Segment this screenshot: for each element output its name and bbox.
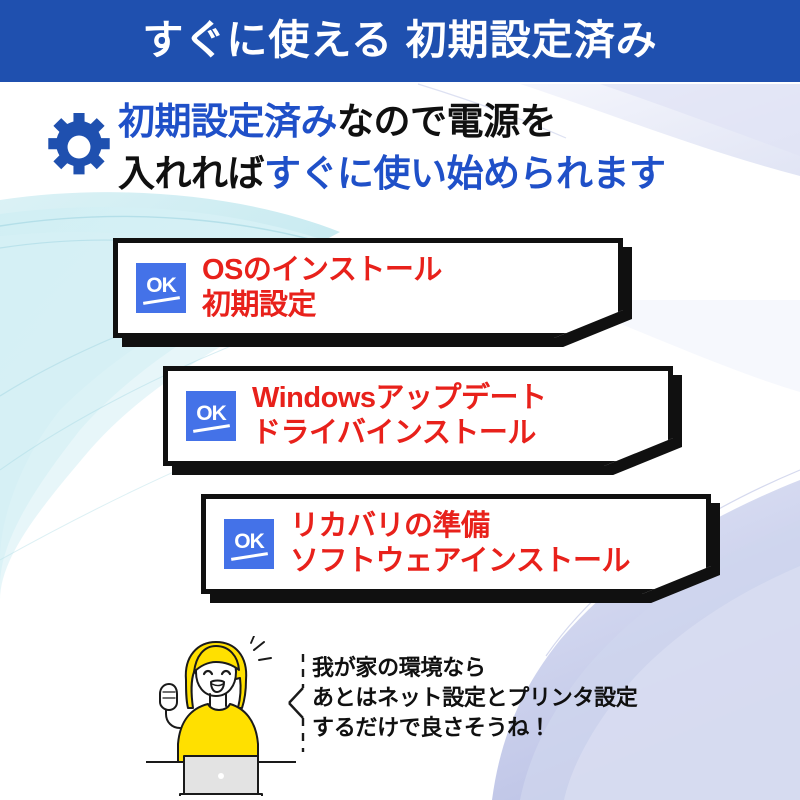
feature-card-1-line-2: 初期設定 [202,288,618,323]
speech-block: 我が家の環境なら あとはネット設定とプリンタ設定 するだけで良さそうね！ [286,652,638,754]
feature-card-2-line-1: Windowsアップデート [252,381,668,416]
feature-card-1-labels: OSのインストール 初期設定 [202,253,618,323]
speech-bracket-icon [286,652,308,754]
header-banner: すぐに使える 初期設定済み [0,0,800,82]
headline-line2-blue: すぐに使い始められます [264,153,666,194]
ok-badge-icon: OK [136,263,186,313]
feature-card-2-line-2: ドライバインストール [252,416,668,451]
infographic-page: すぐに使える 初期設定済み 初期設定済みなので電源を 入れればすぐに使い始められ… [0,0,800,800]
ok-badge-icon: OK [186,391,236,441]
feature-card-3-line-1: リカバリの準備 [290,509,706,544]
feature-card-1-line-1: OSのインストール [202,253,618,288]
ok-badge-label: OK [136,275,186,296]
ok-badge-label: OK [186,403,236,424]
feature-card-3-line-2: ソフトウェアインストール [290,544,706,579]
headline-text: 初期設定済みなので電源を 入れればすぐに使い始められます [118,96,798,200]
feature-card-2-inner: OK Windowsアップデート ドライバインストール [168,371,668,461]
gear-icon [42,110,116,184]
feature-card-3[interactable]: OK リカバリの準備 ソフトウェアインストール [201,494,711,594]
speech-line-1: 我が家の環境なら [312,653,638,683]
headline-line-1: 初期設定済みなので電源を [118,96,798,148]
headline-line-2: 入れればすぐに使い始められます [118,148,798,200]
ok-badge-label: OK [224,531,274,552]
feature-card-3-inner: OK リカバリの準備 ソフトウェアインストール [206,499,706,589]
ok-badge-underline [143,296,180,305]
speech-lines: 我が家の環境なら あとはネット設定とプリンタ設定 するだけで良さそうね！ [312,652,638,743]
ok-badge-icon: OK [224,519,274,569]
headline-line2-black: 入れれば [118,153,264,194]
feature-card-2-labels: Windowsアップデート ドライバインストール [252,381,668,451]
ok-badge-underline [193,424,230,433]
speech-line-3: するだけで良さそうね！ [312,713,638,743]
feature-card-3-labels: リカバリの準備 ソフトウェアインストール [290,509,706,579]
feature-card-2[interactable]: OK Windowsアップデート ドライバインストール [163,366,673,466]
page-title: すぐに使える 初期設定済み [142,20,657,61]
ok-badge-underline [231,552,268,561]
headline-line1-black: なので電源を [337,101,556,142]
feature-card-1[interactable]: OK OSのインストール 初期設定 [113,238,623,338]
speech-line-2: あとはネット設定とプリンタ設定 [312,683,638,713]
woman-with-laptop-illustration [146,636,296,796]
feature-card-1-inner: OK OSのインストール 初期設定 [118,243,618,333]
headline-line1-blue: 初期設定済み [118,101,337,142]
headline-block: 初期設定済みなので電源を 入れればすぐに使い始められます [0,96,800,211]
